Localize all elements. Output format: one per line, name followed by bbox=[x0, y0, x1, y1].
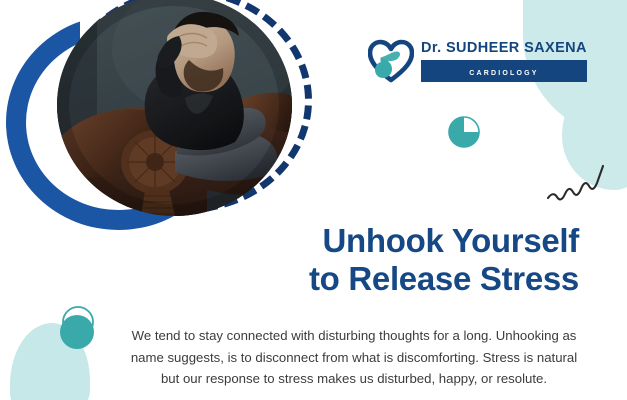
hero-photo bbox=[57, 0, 292, 216]
brand-name: Dr. SUDHEER SAXENA bbox=[421, 40, 587, 57]
body-paragraph: We tend to stay connected with disturbin… bbox=[128, 325, 580, 389]
hero-photo-cluster bbox=[0, 0, 330, 235]
headline-line-1: Unhook Yourself bbox=[323, 222, 579, 259]
poster-canvas: Dr. SUDHEER SAXENA CARDIOLOGY Unhook You… bbox=[0, 0, 627, 400]
teal-pac-circle-icon bbox=[446, 114, 482, 150]
heart-icon bbox=[368, 39, 414, 83]
brand-logo[interactable]: Dr. SUDHEER SAXENA CARDIOLOGY bbox=[368, 37, 563, 85]
overlapping-circles-icon bbox=[52, 303, 110, 355]
zigzag-squiggle-icon bbox=[545, 160, 607, 204]
brand-specialty-bar: CARDIOLOGY bbox=[421, 60, 587, 82]
page-title: Unhook Yourself to Release Stress bbox=[249, 222, 579, 299]
brand-specialty: CARDIOLOGY bbox=[469, 70, 538, 77]
headline-line-2: to Release Stress bbox=[249, 260, 579, 298]
brand-text: Dr. SUDHEER SAXENA CARDIOLOGY bbox=[421, 40, 587, 82]
